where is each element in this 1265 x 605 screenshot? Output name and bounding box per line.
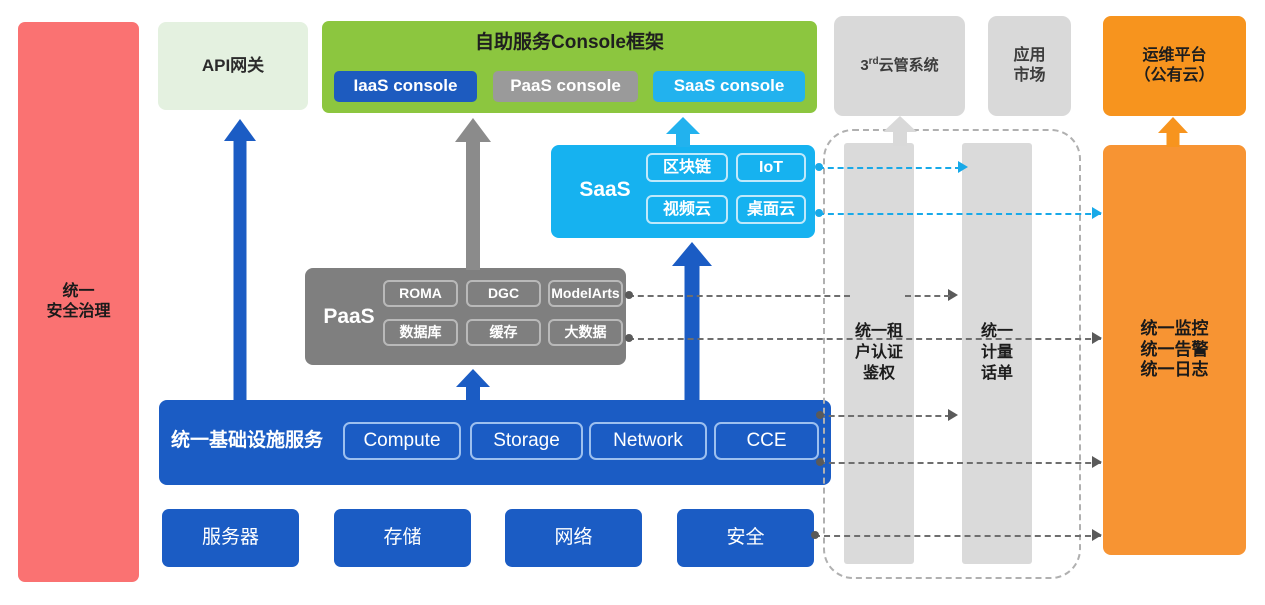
console-frame-title: 自助服务Console框架: [322, 31, 817, 54]
connector-infra-to-metering: [819, 415, 951, 417]
connector-arrow-saas-1: [958, 161, 968, 173]
connector-infra-to-ops: [819, 462, 1101, 464]
arrow-infra-to-api-gateway: [224, 119, 256, 401]
infra-chip-compute[interactable]: Compute: [343, 422, 461, 460]
infra-chip-cce[interactable]: CCE: [714, 422, 819, 460]
connector-arrow-paas-2: [1092, 332, 1102, 344]
connector-resources-to-ops: [814, 535, 1101, 537]
paas-block-label: PaaS: [315, 304, 383, 330]
connector-arrow-saas-2: [1092, 207, 1102, 219]
paas-console-chip[interactable]: PaaS console: [493, 71, 638, 102]
iaas-console-chip[interactable]: IaaS console: [334, 71, 477, 102]
saas-chip-video-cloud[interactable]: 视频云: [646, 195, 728, 224]
ops-platform-label: 运维平台 （公有云）: [1134, 46, 1214, 85]
infra-chip-storage[interactable]: Storage: [470, 422, 583, 460]
ops-monitoring-label: 统一监控 统一告警 统一日志: [1141, 319, 1209, 381]
saas-chip-iot[interactable]: IoT: [736, 153, 806, 182]
resource-box-security[interactable]: 安全: [677, 509, 814, 567]
connector-paas-to-ops: [628, 338, 1101, 340]
saas-chip-blockchain[interactable]: 区块链: [646, 153, 728, 182]
paas-chip-database[interactable]: 数据库: [383, 319, 458, 346]
paas-chip-roma[interactable]: ROMA: [383, 280, 458, 307]
connector-saas-to-metering: [818, 167, 961, 169]
connector-dot-resources: [811, 531, 819, 539]
connector-arrow-resources: [1092, 529, 1102, 541]
shared-column-metering-billing-label: 统一 计量 话单: [981, 322, 1013, 384]
arrow-infra-to-saas: [672, 242, 712, 402]
saas-block: SaaS 区块链 IoT 视频云 桌面云: [551, 145, 815, 238]
connector-paas-to-tenant-auth: [628, 295, 850, 297]
shared-column-tenant-auth-label: 统一租 户认证 鉴权: [855, 322, 903, 384]
architecture-diagram: 统一 安全治理 API网关 自助服务Console框架 IaaS console…: [0, 0, 1265, 605]
api-gateway-box: API网关: [158, 22, 308, 110]
paas-chip-bigdata[interactable]: 大数据: [548, 319, 623, 346]
saas-block-label: SaaS: [565, 177, 645, 203]
resource-box-network[interactable]: 网络: [505, 509, 642, 567]
connector-dot-saas-2: [815, 209, 823, 217]
connector-dot-paas-2: [625, 334, 633, 342]
arrow-paas-to-console: [455, 118, 491, 270]
paas-block: PaaS ROMA DGC ModelArts 数据库 缓存 大数据: [305, 268, 626, 365]
paas-chip-dgc[interactable]: DGC: [466, 280, 541, 307]
resource-box-storage[interactable]: 存储: [334, 509, 471, 567]
superscript-rd: rd: [869, 56, 879, 67]
resource-box-server[interactable]: 服务器: [162, 509, 299, 567]
app-market-label: 应用 市场: [1013, 46, 1045, 85]
connector-saas-to-ops: [818, 213, 1101, 215]
ops-platform-box: 运维平台 （公有云）: [1103, 16, 1246, 116]
arrow-shared-to-third-party: [882, 116, 918, 146]
ops-monitoring-panel: 统一监控 统一告警 统一日志: [1103, 145, 1246, 555]
unified-infrastructure-label: 统一基础设施服务: [171, 429, 323, 452]
infra-chip-network[interactable]: Network: [589, 422, 707, 460]
saas-console-chip[interactable]: SaaS console: [653, 71, 805, 102]
connector-dot-infra-1: [816, 411, 824, 419]
unified-security-governance-panel: 统一 安全治理: [18, 22, 139, 582]
api-gateway-label: API网关: [202, 56, 264, 77]
connector-arrow-infra-1: [948, 409, 958, 421]
self-service-console-frame: 自助服务Console框架 IaaS console PaaS console …: [322, 21, 817, 113]
connector-dot-infra-2: [816, 458, 824, 466]
third-party-cloud-management-label: 3rd云管系统: [860, 56, 938, 75]
paas-chip-cache[interactable]: 缓存: [466, 319, 541, 346]
shared-column-metering-billing: 统一 计量 话单: [962, 143, 1032, 564]
saas-chip-desktop-cloud[interactable]: 桌面云: [736, 195, 806, 224]
shared-column-tenant-auth: 统一租 户认证 鉴权: [844, 143, 914, 564]
connector-dot-saas-1: [815, 163, 823, 171]
connector-dot-paas-1: [625, 291, 633, 299]
arrow-ops-panel-to-ops-box: [1157, 117, 1189, 147]
app-market-box: 应用 市场: [988, 16, 1071, 116]
unified-security-governance-label: 统一 安全治理: [46, 282, 110, 321]
arrow-infra-to-paas: [455, 369, 491, 402]
connector-arrow-infra-2: [1092, 456, 1102, 468]
connector-tenant-auth-to-col2: [905, 295, 950, 297]
paas-chip-modelarts[interactable]: ModelArts: [548, 280, 623, 307]
third-party-cloud-management-box: 3rd云管系统: [834, 16, 965, 116]
arrow-saas-to-console: [665, 117, 701, 147]
unified-infrastructure-bar: 统一基础设施服务 Compute Storage Network CCE: [159, 400, 831, 485]
